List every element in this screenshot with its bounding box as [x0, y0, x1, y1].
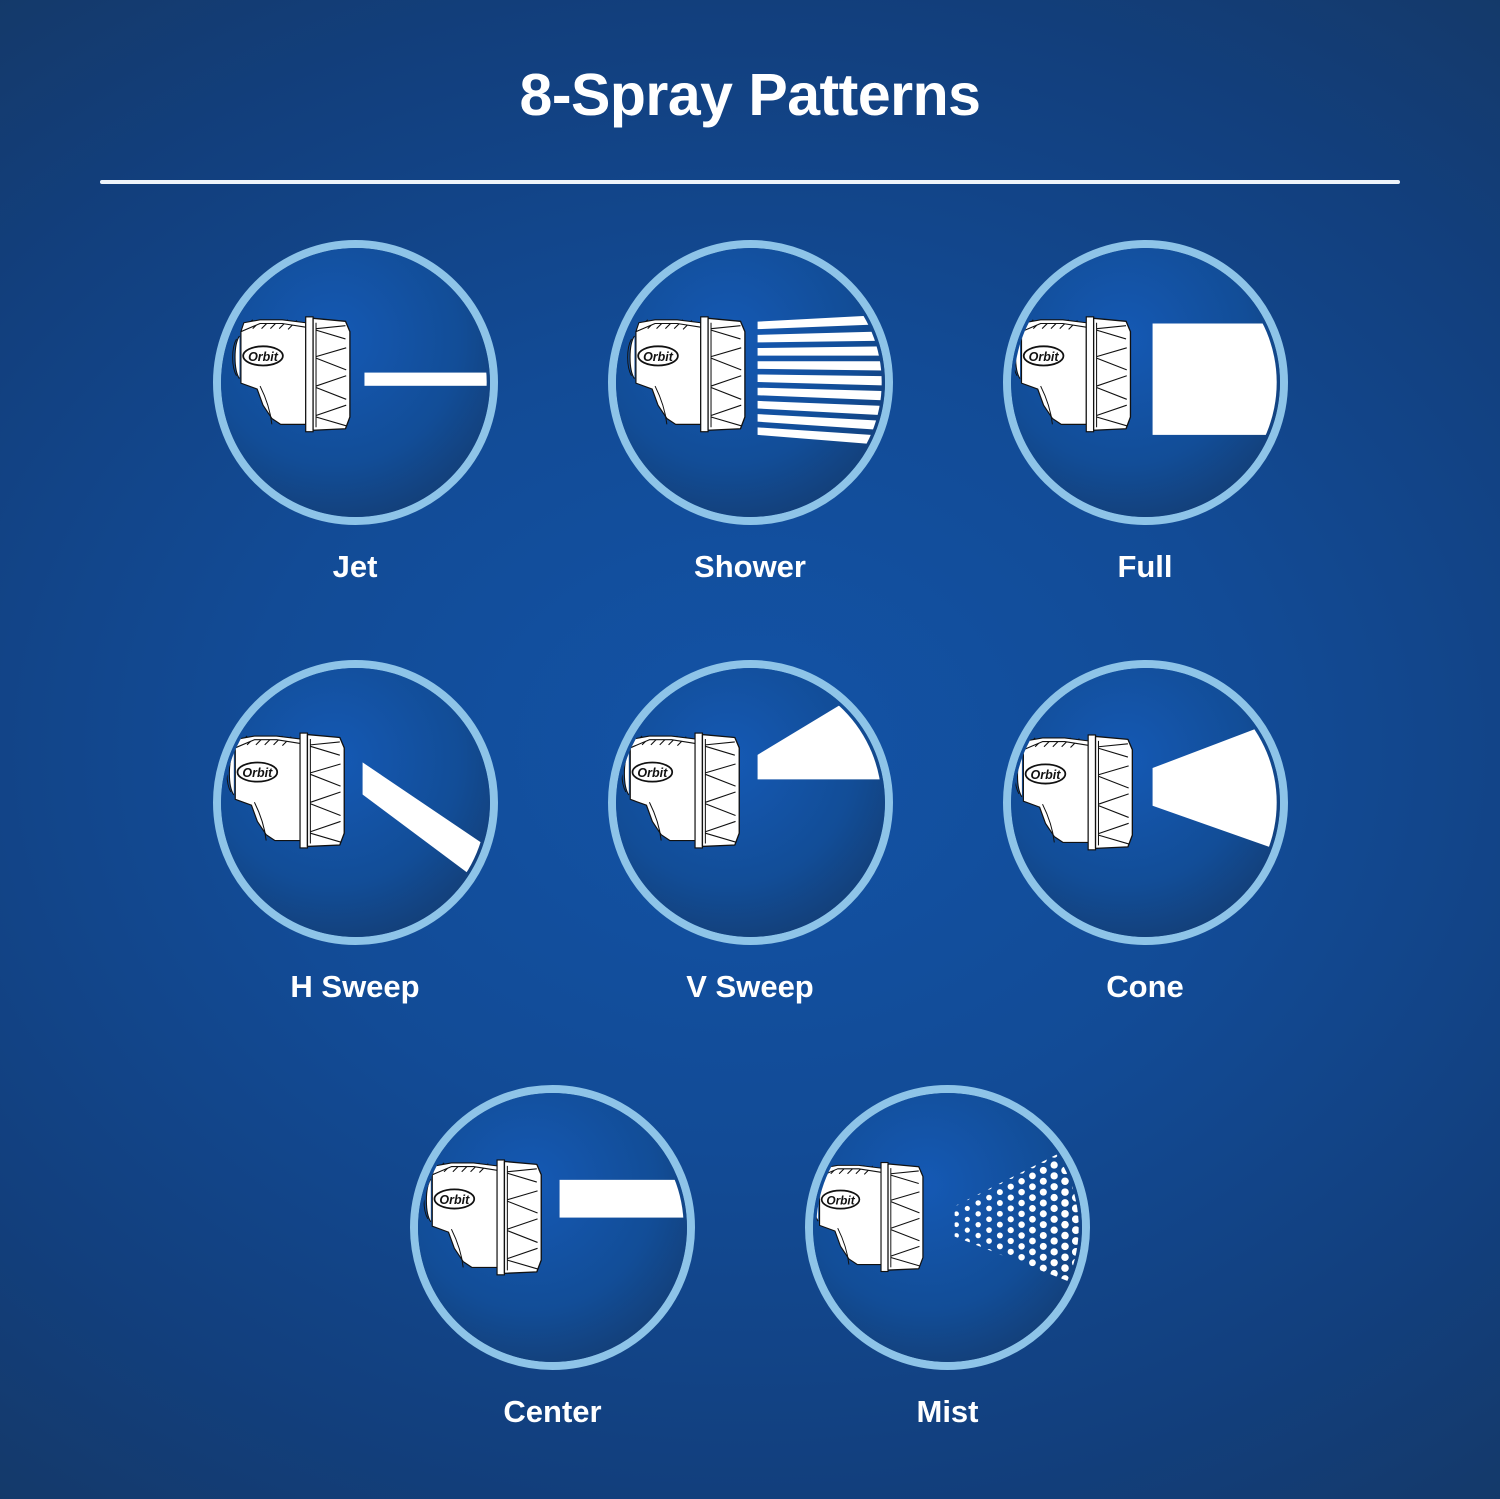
pattern-illustration-shower [608, 240, 893, 525]
pattern-label-h-sweep: H Sweep [290, 969, 419, 1005]
pattern-label-v-sweep: V Sweep [686, 969, 814, 1005]
page-title: 8-Spray Patterns [0, 0, 1500, 125]
pattern-grid: Orbit [0, 240, 1500, 1430]
pattern-cell-cone[interactable]: Cone [1003, 660, 1288, 1005]
pattern-label-full: Full [1117, 549, 1172, 585]
pattern-row-2: H Sweep V Sweep [0, 660, 1500, 1005]
pattern-label-center: Center [503, 1394, 601, 1430]
pattern-label-jet: Jet [333, 549, 378, 585]
pattern-cell-shower[interactable]: Shower [608, 240, 893, 585]
pattern-illustration-cone [1003, 660, 1288, 945]
pattern-cell-full[interactable]: Full [1003, 240, 1288, 585]
pattern-illustration-mist [805, 1085, 1090, 1370]
pattern-cell-jet[interactable]: Orbit [213, 240, 498, 585]
pattern-illustration-center [410, 1085, 695, 1370]
poster-header: 8-Spray Patterns [0, 0, 1500, 125]
pattern-cell-mist[interactable]: Mist [805, 1085, 1090, 1430]
pattern-illustration-v-sweep [608, 660, 893, 945]
pattern-cell-h-sweep[interactable]: H Sweep [213, 660, 498, 1005]
pattern-label-shower: Shower [694, 549, 806, 585]
pattern-row-3: Center [0, 1085, 1500, 1430]
pattern-label-cone: Cone [1106, 969, 1184, 1005]
pattern-cell-center[interactable]: Center [410, 1085, 695, 1430]
header-divider [100, 180, 1400, 184]
pattern-row-1: Orbit [0, 240, 1500, 585]
pattern-label-mist: Mist [917, 1394, 979, 1430]
pattern-illustration-jet: Orbit [213, 240, 498, 525]
pattern-illustration-full [1003, 240, 1288, 525]
spray-patterns-poster: 8-Spray Patterns [0, 0, 1500, 1499]
pattern-cell-v-sweep[interactable]: V Sweep [608, 660, 893, 1005]
pattern-illustration-h-sweep [213, 660, 498, 945]
